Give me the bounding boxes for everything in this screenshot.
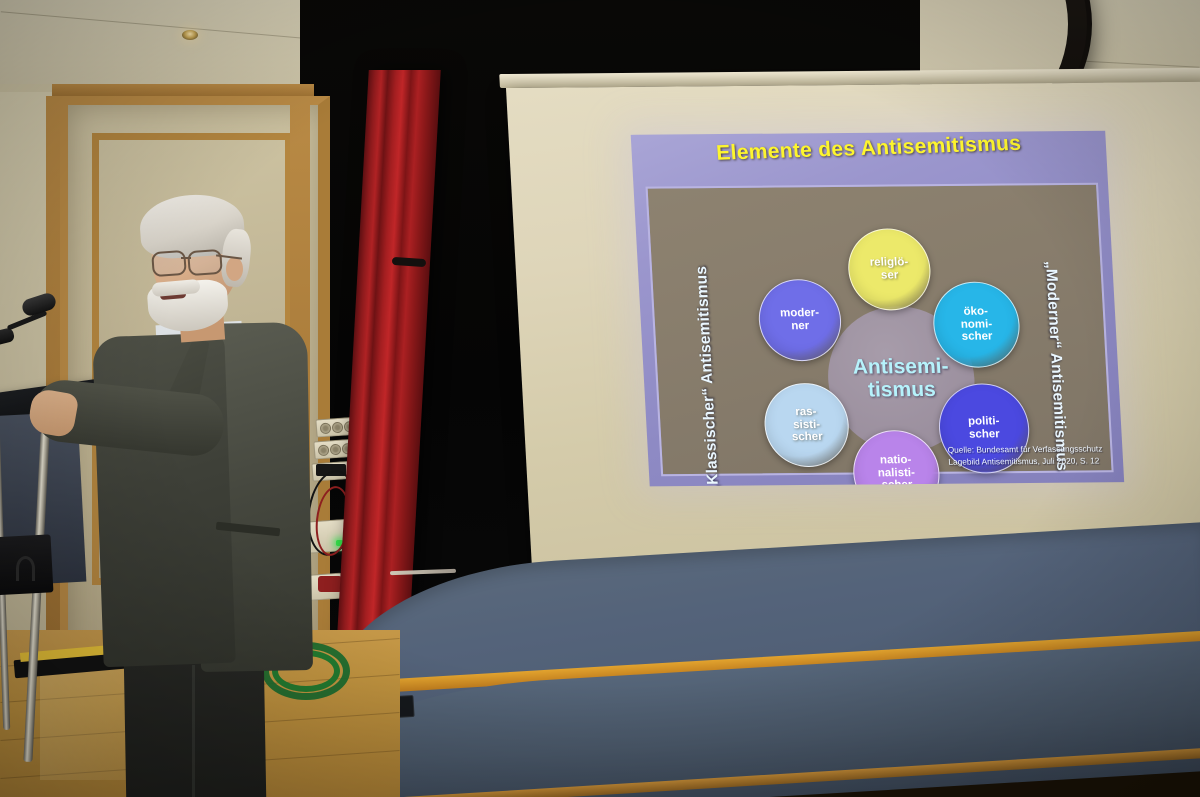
bubble-line: ner [791, 320, 810, 332]
bubble-line: ras- [795, 406, 817, 418]
center-line-2: tismus [867, 378, 936, 402]
socket-hole-icon [332, 422, 344, 434]
socket-hole-icon [330, 444, 342, 456]
bubble-line: politi- [968, 415, 1000, 427]
speaker-ear [226, 257, 243, 281]
bubble-line: moder- [780, 307, 820, 319]
eyeglasses-right-lens-icon [187, 249, 223, 276]
side-label-classical: „Klassischer“ Antisemitismus [693, 273, 723, 486]
trouser-leg-seam [192, 665, 195, 797]
speaker-jacket-left [92, 333, 235, 667]
bubble-line: öko- [963, 305, 988, 317]
stage-platform [330, 548, 1200, 797]
bubble-line: nalisti- [877, 467, 915, 479]
presentation-slide: Elemente des Antisemitismus „Klassischer… [631, 131, 1125, 487]
bubble-line: scher [961, 331, 992, 343]
eyeglasses-left-lens-icon [151, 250, 187, 277]
socket-hole-icon [320, 423, 332, 435]
bubble-line: natio- [880, 454, 912, 466]
photo-scene: Elemente des Antisemitismus „Klassischer… [0, 0, 1200, 797]
bubble-line: ser [881, 269, 899, 281]
bubble-moderner: moder- ner [757, 279, 844, 362]
bubble-religioeser: religlö- ser [846, 228, 933, 311]
center-line-1: Antisemi- [852, 355, 949, 379]
projection-screen: Elemente des Antisemitismus „Klassischer… [505, 64, 1200, 599]
slide-title: Elemente des Antisemitismus [631, 131, 1107, 169]
bubble-line: sisti- [793, 418, 821, 430]
bubble-line: scher [792, 431, 823, 443]
bubble-line: religlö- [869, 256, 908, 268]
source-line-2: Lagebild Antisemitismus, Juli 2020, S. 1… [948, 454, 1103, 467]
speaker-person [40, 195, 320, 797]
eyeglasses-bridge-icon [181, 257, 191, 259]
slide-content-area: „Klassischer“ Antisemitismus „Moderner“ … [646, 183, 1114, 477]
bubble-line: scher [881, 479, 912, 486]
bubble-line: scher [969, 428, 1000, 440]
bubble-line: nomi- [960, 318, 992, 330]
pointer-stick [390, 569, 456, 575]
slide-source-citation: Quelle: Bundesamt für Verfassungsschutz … [947, 442, 1103, 467]
clamp-hook-icon [16, 556, 35, 581]
ceiling-downlight-icon [182, 30, 198, 40]
